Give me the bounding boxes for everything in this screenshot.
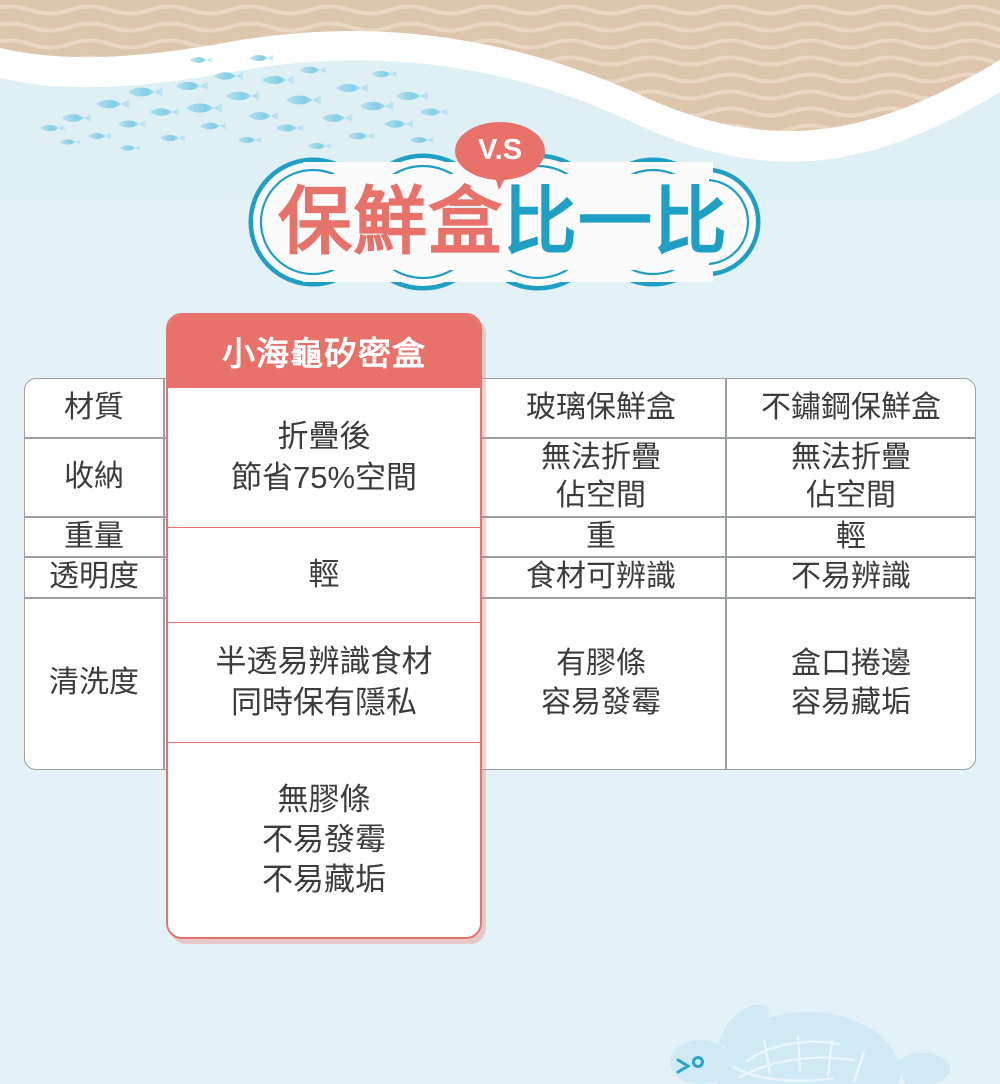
cell-line: 輕 <box>727 518 975 556</box>
sea-turtle <box>658 1004 988 1084</box>
cell-glass-cleaning: 有膠條 容易發霉 <box>476 598 726 770</box>
cell-steel-storage: 無法折疊 佔空間 <box>726 438 976 517</box>
row-label-material: 材質 <box>24 378 164 438</box>
cell-glass-weight: 重 <box>476 517 726 557</box>
cell-line: 無法折疊 <box>727 439 975 477</box>
cell-line: 重 <box>477 518 725 556</box>
cell-line: 盒口捲邊 <box>727 645 975 683</box>
cell-line: 佔空間 <box>727 477 975 515</box>
highlight-column: 小海龜矽密盒 折疊後 節省75%空間 輕 半透易辨識食材 同時保有隱私 無膠條 … <box>166 313 482 939</box>
cell-steel-weight: 輕 <box>726 517 976 557</box>
cell-line: 輕 <box>309 555 340 595</box>
column-header-glass: 玻璃保鮮盒 <box>476 378 726 438</box>
cell-line: 佔空間 <box>477 477 725 515</box>
cell-line: 半透易辨識食材 <box>216 642 433 682</box>
cell-line: 容易發霉 <box>477 684 725 722</box>
cell-line: 不易藏垢 <box>262 860 386 900</box>
title-part-blue: 比一比 <box>503 185 728 259</box>
row-label-weight: 重量 <box>24 517 164 557</box>
column-header-product: 小海龜矽密盒 <box>168 315 480 387</box>
cell-glass-transparency: 食材可辨識 <box>476 557 726 597</box>
cell-line: 容易藏垢 <box>727 684 975 722</box>
cell-line: 同時保有隱私 <box>231 683 417 723</box>
cell-line: 無法折疊 <box>477 439 725 477</box>
cell-line: 有膠條 <box>477 645 725 683</box>
cell-line: 無膠條 <box>278 780 371 820</box>
page-title: 保鮮盒比一比 V.S <box>0 122 1000 312</box>
cell-steel-transparency: 不易辨識 <box>726 557 976 597</box>
cell-line: 不易辨識 <box>727 558 975 596</box>
vs-badge: V.S <box>455 122 545 192</box>
vs-badge-label: V.S <box>478 136 522 165</box>
cell-line: 食材可辨識 <box>477 558 725 596</box>
row-label-transparency: 透明度 <box>24 557 164 597</box>
cell-line: 節省75%空間 <box>231 458 417 498</box>
cell-line: 不易發霉 <box>262 820 386 860</box>
cell-product-cleaning: 無膠條 不易發霉 不易藏垢 <box>168 742 480 937</box>
row-label-storage: 收納 <box>24 438 164 517</box>
cell-product-transparency: 半透易辨識食材 同時保有隱私 <box>168 622 480 742</box>
cell-product-storage: 折疊後 節省75%空間 <box>168 387 480 527</box>
title-part-coral: 保鮮盒 <box>278 185 503 259</box>
row-label-cleaning: 清洗度 <box>24 598 164 770</box>
cell-product-weight: 輕 <box>168 527 480 622</box>
cell-steel-cleaning: 盒口捲邊 容易藏垢 <box>726 598 976 770</box>
cell-line: 折疊後 <box>278 417 371 457</box>
sea-turtle-svg <box>658 1004 988 1084</box>
column-header-steel: 不鏽鋼保鮮盒 <box>726 378 976 438</box>
vs-badge-bubble: V.S <box>455 122 545 180</box>
cell-glass-storage: 無法折疊 佔空間 <box>476 438 726 517</box>
